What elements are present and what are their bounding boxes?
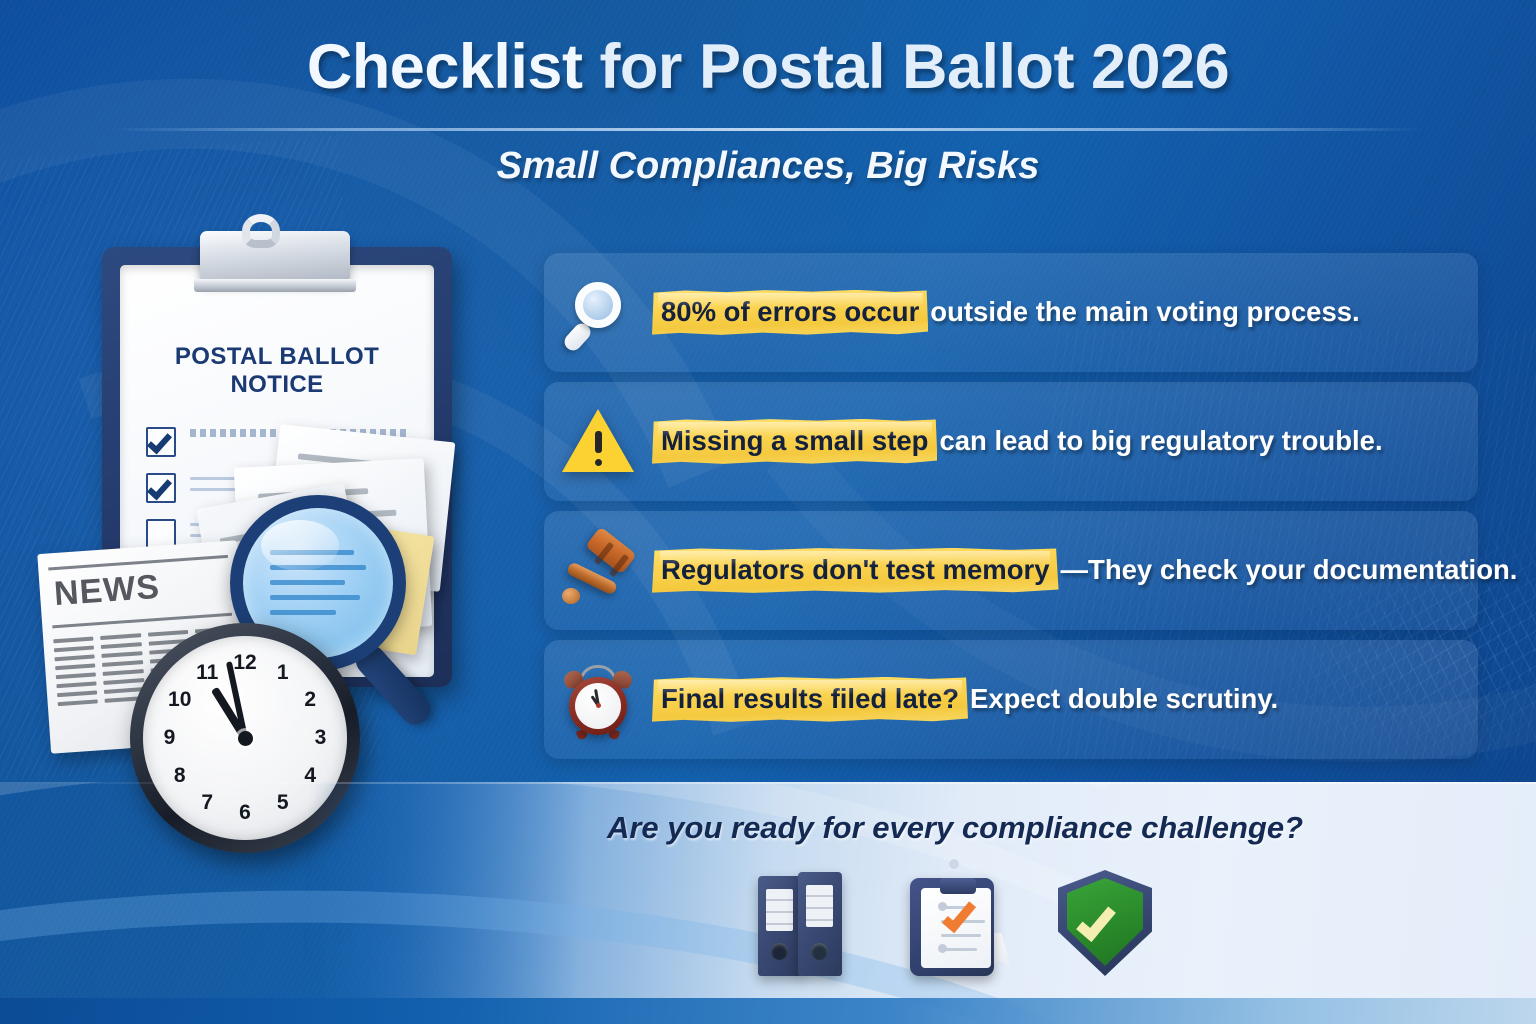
point-rest-4: Expect double scrutiny. bbox=[970, 683, 1278, 714]
point-text-4: Final results filed late?Expect double s… bbox=[652, 677, 1478, 722]
check-icon bbox=[942, 897, 976, 933]
point-rest-1: outside the main voting process. bbox=[930, 296, 1359, 327]
checkbox-icon bbox=[146, 473, 176, 503]
footer-top-edge bbox=[0, 782, 1536, 784]
point-icon-2 bbox=[544, 382, 652, 501]
footer-bottom-strip bbox=[0, 998, 1536, 1024]
hero-illustration: POSTAL BALLOT NOTICE bbox=[40, 225, 510, 845]
clipboard-heading-line2: NOTICE bbox=[120, 371, 434, 399]
page-title: Checklist for Postal Ballot 2026 bbox=[0, 34, 1536, 100]
point-text-2: Missing a small stepcan lead to big regu… bbox=[652, 419, 1478, 464]
point-icon-1 bbox=[544, 253, 652, 372]
clock-number: 9 bbox=[156, 726, 184, 750]
alarm-clock-icon bbox=[563, 663, 633, 737]
clipboard-heading: POSTAL BALLOT NOTICE bbox=[120, 343, 434, 400]
clock-number: 10 bbox=[166, 688, 194, 712]
binders-icon bbox=[758, 870, 850, 976]
clipboard-clamp-bar bbox=[194, 279, 356, 292]
clock-number: 1 bbox=[269, 661, 297, 685]
clipboard-heading-line1: POSTAL BALLOT bbox=[120, 343, 434, 371]
point-text-1: 80% of errors occuroutside the main voti… bbox=[652, 290, 1478, 335]
point-highlight-3: Regulators don't test memory bbox=[652, 548, 1059, 593]
point-rest-3: —They check your documentation. bbox=[1061, 554, 1518, 585]
warning-triangle-icon bbox=[562, 409, 634, 475]
checkbox-icon bbox=[146, 427, 176, 457]
point-highlight-4: Final results filed late? bbox=[652, 677, 968, 722]
infographic-poster: Checklist for Postal Ballot 2026 Small C… bbox=[0, 0, 1536, 1024]
title-divider bbox=[112, 128, 1424, 131]
page-title-rest: for Postal Ballot 2026 bbox=[582, 32, 1229, 102]
shield-check-icon bbox=[1058, 870, 1152, 976]
gavel-icon bbox=[560, 536, 636, 606]
clipboard-ring bbox=[242, 214, 280, 248]
footer-icon-row bbox=[500, 866, 1410, 976]
magnifier-icon bbox=[565, 280, 631, 346]
page-subtitle: Small Compliances, Big Risks bbox=[0, 145, 1536, 188]
clock-number: 2 bbox=[296, 688, 324, 712]
magnifier-glare bbox=[261, 520, 339, 571]
point-highlight-1: 80% of errors occur bbox=[652, 290, 928, 335]
check-icon bbox=[147, 475, 172, 501]
page-title-strong: Checklist bbox=[307, 32, 583, 102]
clock-center-pin bbox=[238, 731, 253, 746]
call-to-action-text: Are you ready for every compliance chall… bbox=[500, 810, 1410, 846]
point-icon-4 bbox=[544, 640, 652, 759]
clock-number: 3 bbox=[306, 726, 334, 750]
point-card-2[interactable]: Missing a small stepcan lead to big regu… bbox=[544, 382, 1478, 501]
check-icon bbox=[147, 429, 172, 455]
point-card-3[interactable]: Regulators don't test memory—They check … bbox=[544, 511, 1478, 630]
clipboard-check-icon bbox=[906, 866, 1002, 976]
points-list: 80% of errors occuroutside the main voti… bbox=[544, 253, 1478, 769]
point-card-4[interactable]: Final results filed late?Expect double s… bbox=[544, 640, 1478, 759]
newspaper-masthead: NEWS bbox=[53, 563, 227, 614]
clock-number: 11 bbox=[193, 661, 221, 685]
point-highlight-2: Missing a small step bbox=[652, 419, 937, 464]
point-text-3: Regulators don't test memory—They check … bbox=[652, 548, 1535, 593]
clock-number: 12 bbox=[231, 651, 259, 675]
point-icon-3 bbox=[544, 511, 652, 630]
point-card-1[interactable]: 80% of errors occuroutside the main voti… bbox=[544, 253, 1478, 372]
point-rest-2: can lead to big regulatory trouble. bbox=[939, 425, 1382, 456]
